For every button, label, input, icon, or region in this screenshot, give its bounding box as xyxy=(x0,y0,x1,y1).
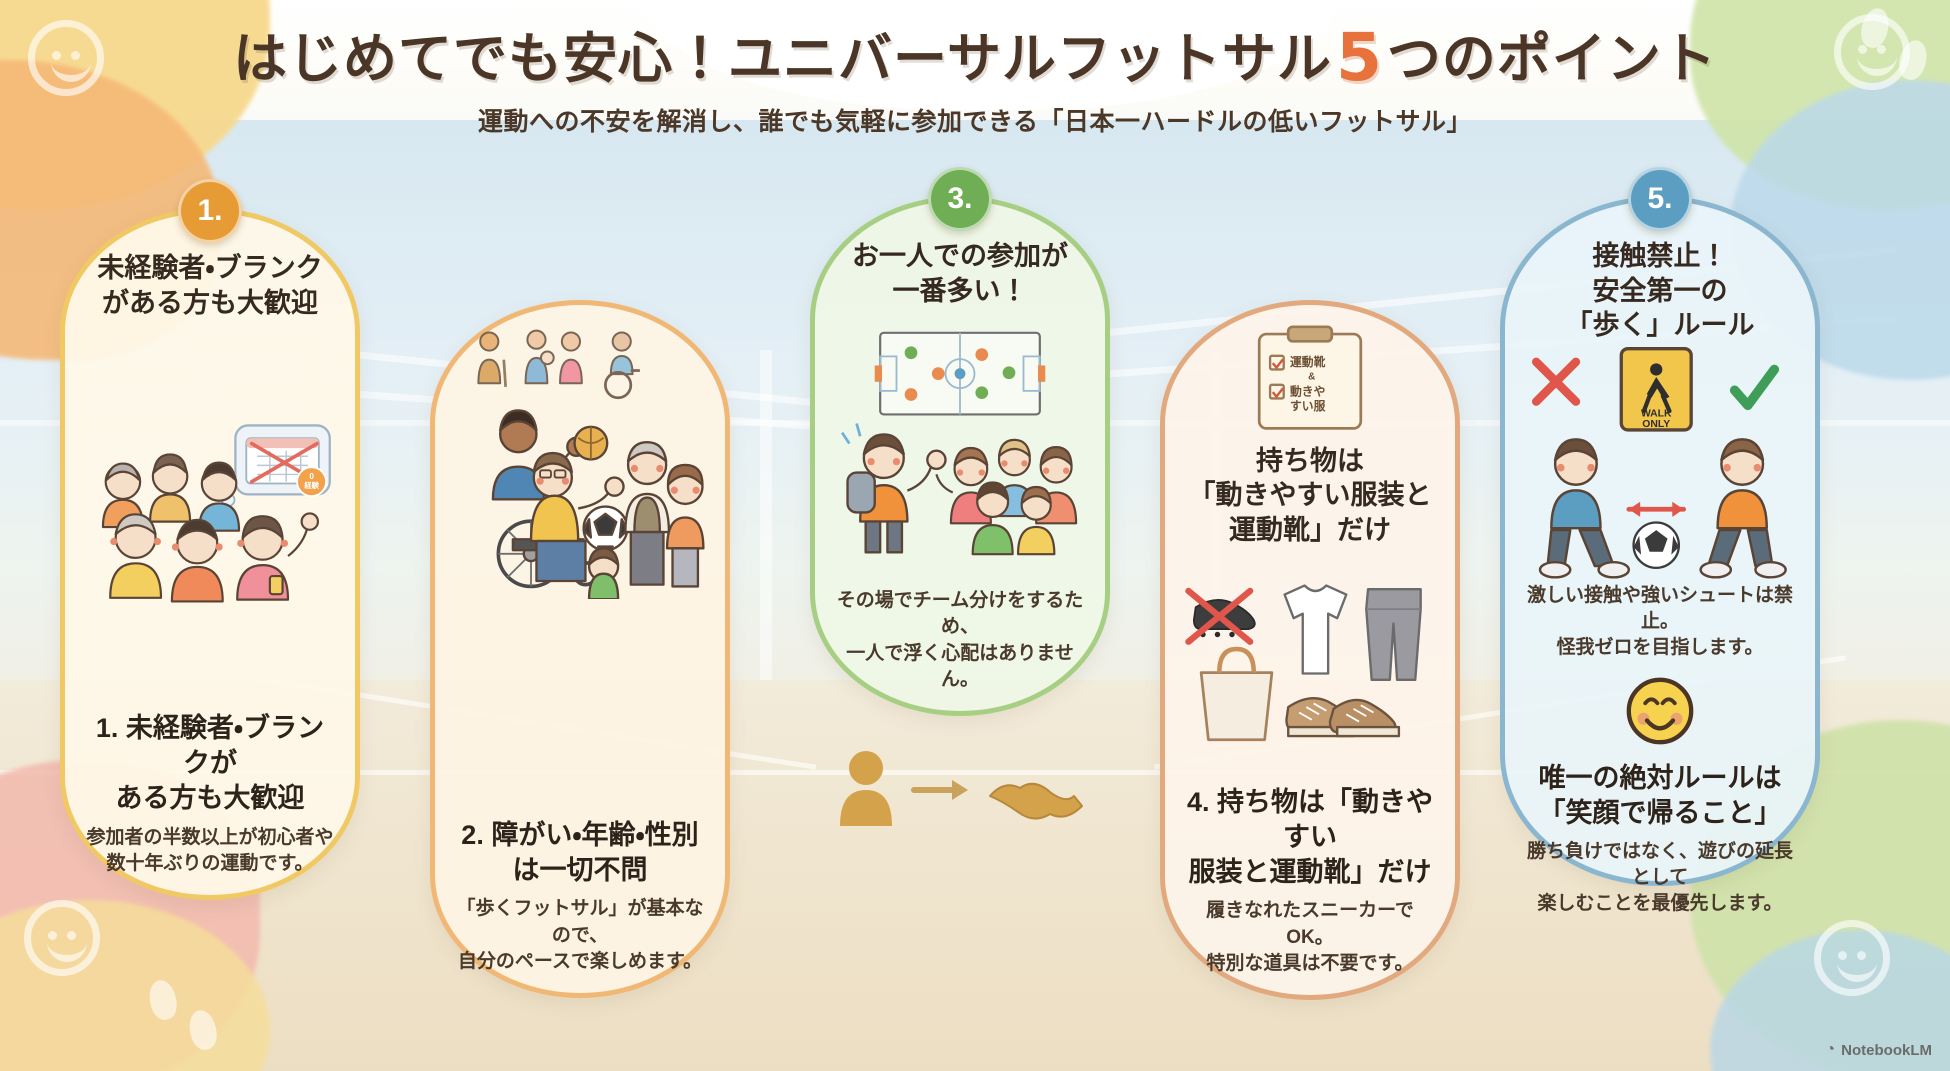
page-subtitle: 運動への不安を解消し、誰でも気軽に参加できる「日本一ハードルの低いフットサル」 xyxy=(0,102,1950,138)
card-5-heading: 接触禁止！ 安全第一の 「歩く」ルール xyxy=(1566,239,1755,343)
card-5-caption-sub: 勝ち負けではなく、遊びの延長として 楽しむことを最優先します。 xyxy=(1523,839,1797,918)
card-4-caption-sub: 履きなれたスニーカーでOK。 特別な道具は不要です。 xyxy=(1183,898,1437,977)
point-card-3[interactable]: 3. お一人での参加が 一番多い！ xyxy=(810,196,1110,716)
smiley-face-icon xyxy=(1621,672,1699,750)
card-1-number-badge: 1. xyxy=(178,179,242,243)
svg-text:WALK: WALK xyxy=(1641,408,1672,419)
card-3-heading: お一人での参加が 一番多い！ xyxy=(852,239,1068,308)
card-5-mid-caption: 激しい接触や強いシュートは禁止。 怪我ゼロを目指します。 xyxy=(1523,583,1797,662)
page-title: はじめてでも安心！ユニバーサルフットサル5つのポイント xyxy=(0,14,1950,96)
card-3-footer-icon-group xyxy=(830,742,1090,837)
smiley-face-icon xyxy=(24,900,100,976)
person-to-handshake-arrow-icon xyxy=(830,742,1090,832)
card-5-illustration: WALK ONLY xyxy=(1523,343,1797,579)
card-1-heading: 未経験者・ブランク がある方も大歓迎 xyxy=(97,251,322,320)
card-1-caption-title: 1. 未経験者・ブランクが ある方も大歓迎 xyxy=(83,711,337,816)
check-mark-icon xyxy=(1735,369,1775,405)
card-4-heading: 持ち物は 「動きやすい服装と 運動靴」だけ xyxy=(1189,444,1432,548)
card-2-caption-sub: 「歩くフットサル」が基本なので、 自分のペースで楽しめます。 xyxy=(453,896,707,975)
solo-participant-greeted-illustration xyxy=(833,331,1087,558)
card-1-caption-sub: 参加者の半数以上が初心者や 数十年ぶりの運動です。 xyxy=(86,825,333,877)
card-3-illustration xyxy=(833,308,1087,580)
watermark: ◔ NotebookLM xyxy=(1826,1041,1933,1059)
header: はじめてでも安心！ユニバーサルフットサル5つのポイント 運動への不安を解消し、誰… xyxy=(0,0,1950,124)
svg-text:&: & xyxy=(1308,371,1315,382)
title-main-text: はじめてでも安心！ユニバーサルフットサル xyxy=(233,27,1332,90)
point-card-4[interactable]: 4. 運動靴 & 動きや すい服 持ち物は 「動きやすい服装と 運動靴」だけ xyxy=(1160,300,1460,1000)
card-1-illustration: 0 経験 xyxy=(83,320,337,711)
checklist-clipboard-icon: 運動靴 & 動きや すい服 xyxy=(1183,325,1437,434)
svg-text:すい服: すい服 xyxy=(1290,399,1326,413)
svg-text:動きや: 動きや xyxy=(1290,385,1325,399)
bag-tshirt-pants-sneakers-illustration xyxy=(1183,571,1437,762)
point-card-1[interactable]: 1. 未経験者・ブランク がある方も大歓迎 0 xyxy=(60,208,360,900)
card-2-caption-title: 2. 障がい・年齢・性別 は一切不問 xyxy=(461,818,698,888)
svg-text:0: 0 xyxy=(309,472,314,481)
point-card-5[interactable]: 5. 接触禁止！ 安全第一の 「歩く」ルール WALK ONLY xyxy=(1500,196,1820,886)
card-3-number-badge: 3. xyxy=(928,167,992,231)
smiley-face-icon xyxy=(1814,920,1890,996)
card-2-illustration xyxy=(453,327,707,599)
svg-text:ONLY: ONLY xyxy=(1642,419,1670,430)
card-5-caption-title: 唯一の絶対ルールは 「笑顔で帰ること」 xyxy=(1539,761,1782,831)
notebooklm-logo-icon: ◔ xyxy=(1826,1041,1836,1059)
card-5-smiley-group xyxy=(1621,672,1699,755)
title-number: 5 xyxy=(1332,19,1387,96)
watermark-label: NotebookLM xyxy=(1841,1042,1932,1059)
point-card-2[interactable]: 2. xyxy=(430,300,730,998)
card-4-illustration: 運動靴 & 動きや すい服 xyxy=(1183,325,1437,434)
title-tail-text: つのポイント xyxy=(1387,27,1717,90)
wheelchair-and-diverse-group-illustration xyxy=(453,327,707,599)
svg-text:経験: 経験 xyxy=(303,481,319,490)
card-3-caption-sub: その場でチーム分けをするため、 一人で浮く心配はありません。 xyxy=(833,588,1087,693)
walk-only-rule-illustration: WALK ONLY xyxy=(1523,343,1797,579)
card-4-caption-title: 4. 持ち物は「動きやすい 服装と運動靴」だけ xyxy=(1183,785,1437,890)
walk-only-sign-icon: WALK ONLY xyxy=(1621,348,1691,429)
card-4-gear-illustration xyxy=(1183,547,1437,785)
cross-mark-icon xyxy=(1536,362,1576,402)
group-of-smiling-people-illustration: 0 経験 xyxy=(83,420,337,611)
infographic-canvas: はじめてでも安心！ユニバーサルフットサル5つのポイント 運動への不安を解消し、誰… xyxy=(0,0,1950,1071)
svg-text:運動靴: 運動靴 xyxy=(1290,355,1326,369)
card-5-number-badge: 5. xyxy=(1628,167,1692,231)
